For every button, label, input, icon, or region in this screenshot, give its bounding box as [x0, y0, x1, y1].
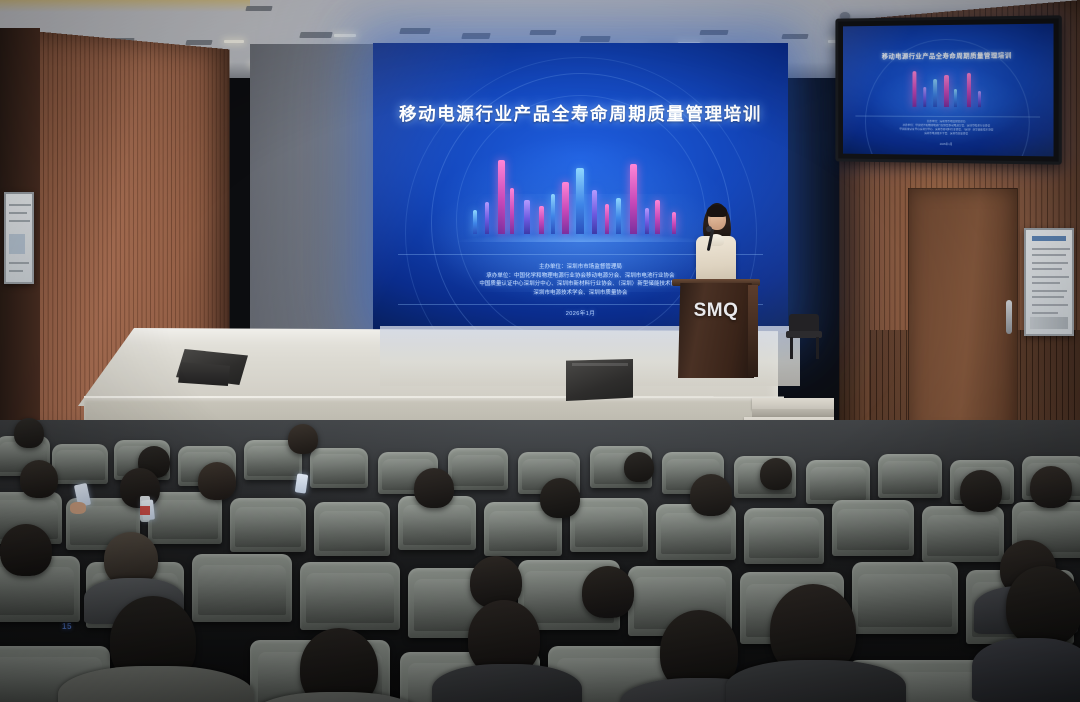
seat[interactable]: [922, 506, 1004, 562]
notice-board-right: [1024, 228, 1074, 336]
ceiling-vent: [579, 36, 610, 42]
ceiling-vent: [185, 40, 212, 45]
seat-number-label: 15: [62, 622, 72, 631]
audience-head: [960, 470, 1002, 512]
seat[interactable]: [300, 562, 400, 630]
presenter-hair-fringe: [707, 205, 727, 217]
audience-head: [414, 468, 454, 508]
audience-head: [1030, 466, 1072, 508]
notice-footer: [1030, 317, 1068, 329]
seat[interactable]: [52, 444, 108, 484]
audience-head: [1006, 566, 1080, 646]
stage-floor-monitor-grille: [178, 362, 230, 386]
side-door[interactable]: [908, 188, 1018, 438]
notice-board-left: [4, 192, 34, 284]
ceiling-light-strip: [334, 34, 356, 37]
stage-chair-leg: [816, 337, 819, 359]
ceiling-vent: [299, 32, 332, 38]
notice-title-bar: [1032, 236, 1066, 241]
monitor-credits: 主办单位：深圳市市场监督管理局 承办单位：中国化学和物理电源行业协会移动电源分会…: [843, 119, 1054, 137]
podium-side-panel: [748, 285, 758, 377]
ceiling-vent: [699, 30, 728, 35]
ceiling-warm-edge: [0, 0, 250, 12]
ceiling-vent: [399, 28, 430, 34]
door-handle[interactable]: [1006, 300, 1012, 334]
monitor-screen: 移动电源行业产品全寿命周期质量管理培训 主办单位：深圳市市场监督管理局 承办单位…: [843, 24, 1054, 157]
seat[interactable]: [448, 448, 508, 490]
audience-head: [198, 462, 236, 500]
audience-shoulders: [972, 638, 1080, 702]
audience-head: [624, 452, 654, 482]
stage-floor-monitor-highlight: [572, 363, 628, 366]
stage-chair-backrest: [789, 314, 819, 332]
podium-logo: SMQ: [678, 300, 754, 322]
seat[interactable]: [570, 498, 648, 552]
seat[interactable]: [832, 500, 914, 556]
audience-head: [690, 474, 732, 516]
seat[interactable]: [744, 508, 824, 564]
screen-title: 移动电源行业产品全寿命周期质量管理培训: [373, 101, 788, 126]
hand: [70, 502, 86, 514]
audience-head: [20, 460, 58, 498]
auditorium-scene: 移动电源行业产品全寿命周期质量管理培训 主办单位：深圳市市场监督管理局 承办单位…: [0, 0, 1080, 702]
seat[interactable]: [878, 454, 942, 498]
audience-shoulders: [726, 660, 906, 702]
stage-stair-riser: [752, 409, 834, 417]
seat[interactable]: [310, 448, 368, 488]
ceiling-vent: [245, 6, 272, 11]
ceiling-vent: [461, 33, 490, 39]
ceiling-vent: [781, 34, 808, 39]
bottle-label: [140, 506, 150, 515]
audience-head: [0, 524, 52, 576]
audience-head: [14, 418, 44, 448]
ceiling-vent: [529, 30, 556, 35]
audience-head: [288, 424, 318, 454]
side-display-monitor: 移动电源行业产品全寿命周期质量管理培训 主办单位：深圳市市场监督管理局 承办单位…: [835, 15, 1061, 164]
audience-head: [760, 458, 792, 490]
ceiling-light-strip: [224, 40, 244, 43]
audience-head: [540, 478, 580, 518]
seat[interactable]: [192, 554, 292, 622]
monitor-skyline: [843, 62, 1054, 109]
stage-chair-leg: [790, 337, 793, 359]
seat[interactable]: [806, 460, 870, 504]
audience-head: [300, 628, 378, 702]
audience-head: [582, 566, 634, 618]
seat[interactable]: [314, 502, 390, 556]
seat[interactable]: [230, 498, 306, 552]
monitor-title: 移动电源行业产品全寿命周期质量管理培训: [843, 50, 1054, 60]
speaker-podium: [678, 283, 754, 378]
seat[interactable]: [852, 562, 958, 634]
audience-shoulders: [432, 664, 582, 702]
